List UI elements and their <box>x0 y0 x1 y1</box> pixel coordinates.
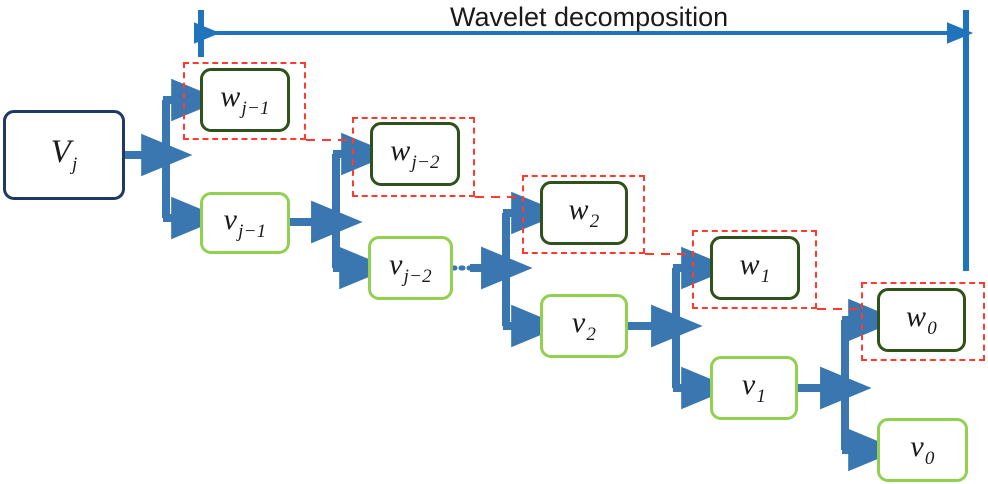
diagram-title: Wavelet decomposition <box>450 2 728 33</box>
node-label-sub-vj1: j−1 <box>238 221 266 242</box>
node-label-base-v0: v <box>910 430 924 463</box>
node-label-wj2: wj−2 <box>390 136 439 172</box>
wavelet-decomposition-diagram: Wavelet decomposition Vjwj−1vj−1wj−2vj−2… <box>0 0 988 484</box>
node-label-w1: w1 <box>740 250 771 286</box>
node-label-w2: w2 <box>569 195 600 231</box>
node-label-vj2: vj−2 <box>389 250 432 286</box>
split-j1 <box>290 154 366 268</box>
node-wj2[interactable]: wj−2 <box>370 122 460 186</box>
node-label-v0: v0 <box>910 432 934 468</box>
node-label-sub-w1: 1 <box>761 266 771 287</box>
node-label-sub-v1: 1 <box>756 386 766 407</box>
split-j <box>125 100 196 218</box>
node-label-base-vj2: v <box>389 248 403 281</box>
node-w1[interactable]: w1 <box>710 236 800 300</box>
node-label-base-w2: w <box>569 193 589 226</box>
node-label-sub-w0: 0 <box>927 318 937 339</box>
diagram-canvas <box>0 0 988 484</box>
node-label-sub-v2: 2 <box>586 324 596 345</box>
node-label-base-v2: v <box>572 306 586 339</box>
node-label-v2: v2 <box>572 308 596 344</box>
node-vj2[interactable]: vj−2 <box>368 236 453 300</box>
node-label-base-wj1: w <box>220 80 240 113</box>
node-vj1[interactable]: vj−1 <box>200 192 290 254</box>
node-label-base-v1: v <box>742 368 756 401</box>
node-label-wj1: wj−1 <box>220 82 269 118</box>
node-label-v1: v1 <box>742 370 766 406</box>
node-v0[interactable]: v0 <box>877 418 968 482</box>
node-label-w0: w0 <box>906 302 937 338</box>
node-label-sub-wj2: j−2 <box>412 152 440 173</box>
node-label-base-wj2: w <box>390 134 410 167</box>
node-label-vj1: vj−1 <box>224 205 267 241</box>
node-w2[interactable]: w2 <box>540 181 628 245</box>
node-label-sub-vj2: j−2 <box>404 266 432 287</box>
node-wj1[interactable]: wj−1 <box>200 68 290 132</box>
node-label-base-w1: w <box>740 248 760 281</box>
node-label-base-vj1: v <box>224 203 238 236</box>
node-label-Vj: Vj <box>51 136 78 174</box>
node-label-sub-v0: 0 <box>925 448 935 469</box>
node-Vj[interactable]: Vj <box>3 110 125 200</box>
node-w0[interactable]: w0 <box>877 288 966 352</box>
node-label-base-Vj: V <box>51 134 71 170</box>
node-v1[interactable]: v1 <box>710 356 798 420</box>
node-label-sub-wj1: j−1 <box>242 98 270 119</box>
node-label-sub-Vj: j <box>72 154 77 175</box>
node-v2[interactable]: v2 <box>540 294 628 358</box>
node-label-sub-w2: 2 <box>590 211 600 232</box>
node-label-base-w0: w <box>906 300 926 333</box>
